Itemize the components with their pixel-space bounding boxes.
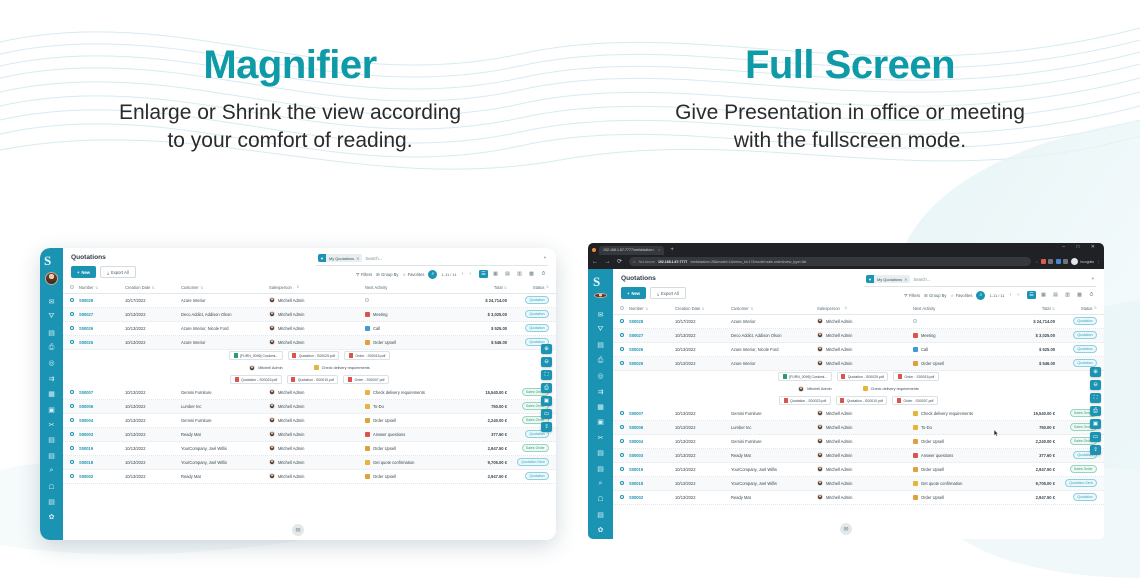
cell-creation-date: 10/13/2022: [675, 333, 731, 338]
cell-customer: Gemini Furniture: [731, 439, 817, 444]
pdf-file-icon: [235, 377, 239, 382]
todo-icon: [314, 365, 319, 370]
pager: 1-11 / 11: [989, 293, 1004, 298]
row-checkbox[interactable]: [70, 390, 79, 394]
row-checkbox[interactable]: [620, 333, 629, 337]
table-row[interactable]: S0001810/13/2022YourCompany, Joel Willis…: [613, 477, 1104, 491]
calendar-view-icon[interactable]: ▤: [1051, 291, 1060, 299]
label-icon[interactable]: ▭: [541, 409, 552, 419]
cell-salesperson: Mitchell Admin: [817, 332, 913, 338]
cell-next-activity[interactable]: Order Upsell: [365, 340, 451, 345]
browser-toolbar-icons: ☆ Incognito ⋮: [1035, 258, 1100, 265]
row-checkbox[interactable]: [620, 481, 629, 485]
list-view-icon[interactable]: ☰: [1027, 291, 1036, 299]
cell-next-activity[interactable]: Order Upsell: [913, 439, 999, 444]
reload-icon[interactable]: ⟳: [617, 258, 625, 265]
odoo-content-right: Quotations + New ⤓ Export All: [613, 269, 1104, 539]
cell-next-activity[interactable]: To-Do: [913, 425, 999, 430]
cell-next-activity[interactable]: Order Upsell: [365, 446, 451, 451]
cell-customer: Azure Interior: [181, 340, 269, 345]
table-row[interactable]: S0000310/13/2022Ready MatMitchell AdminA…: [613, 449, 1104, 463]
upsell-icon: [365, 474, 370, 479]
back-icon[interactable]: ←: [592, 259, 601, 265]
gear-icon[interactable]: ✿: [594, 524, 607, 537]
kebab-menu-icon[interactable]: ⋮: [1097, 260, 1100, 264]
cell-number[interactable]: S00026: [79, 326, 125, 331]
search-facet-my-quotations[interactable]: ▼ My Quotations ✕: [318, 254, 362, 262]
window-icon[interactable]: ▣: [541, 396, 552, 406]
sort-icon: ⇅: [152, 286, 155, 290]
column-header-total[interactable]: Total⇅: [451, 285, 507, 290]
magnifier-minus-icon[interactable]: ⊖: [541, 357, 552, 367]
cell-next-activity[interactable]: Order Upsell: [365, 474, 451, 479]
book-icon[interactable]: ▤: [45, 495, 58, 508]
cell-number[interactable]: S00003: [629, 453, 675, 458]
browser-tab[interactable]: 192.168.1.67:7777/web#action= ×: [599, 246, 664, 255]
cell-number[interactable]: S00019: [79, 446, 125, 451]
breadcrumb[interactable]: Quotations: [621, 275, 686, 282]
cell-number[interactable]: S00007: [79, 390, 125, 395]
row-checkbox[interactable]: [620, 453, 629, 457]
cell-number[interactable]: S00007: [629, 411, 675, 416]
chat-icon[interactable]: ✉: [292, 524, 304, 536]
graph-view-icon[interactable]: ▩: [1075, 291, 1084, 299]
attachment-chip[interactable]: Order - S00007.pdf: [892, 396, 937, 406]
row-checkbox[interactable]: [620, 319, 629, 323]
row-checkbox[interactable]: [620, 411, 629, 415]
cut-icon[interactable]: ✂: [594, 431, 607, 444]
search-bar[interactable]: ▼ My Quotations ✕ Search... ▾: [864, 275, 1096, 287]
fullscreen-icon[interactable]: ⛶: [1090, 393, 1101, 403]
cell-number[interactable]: S00027: [79, 312, 125, 317]
group-by-button[interactable]: ⊞ Group By: [376, 272, 398, 277]
cell-creation-date: 10/17/2022: [675, 319, 731, 324]
column-header-number[interactable]: Number⇅: [629, 306, 675, 311]
table-icon[interactable]: ▣: [594, 416, 607, 429]
quote-icon: [913, 481, 918, 486]
quotations-table-right: Number⇅Creation Date⇅Customer⇅Salesperso…: [613, 303, 1104, 505]
activity-view-icon[interactable]: ⏱: [1087, 291, 1096, 299]
cell-number[interactable]: S00004: [629, 439, 675, 444]
column-header-next-activity[interactable]: Next Activity: [913, 306, 999, 311]
table-row[interactable]: S0002510/13/2022Azure InteriorMitchell A…: [613, 357, 1104, 371]
grid-icon[interactable]: ▦: [45, 388, 58, 401]
cell-status: Quotation: [1055, 359, 1097, 367]
settings-icon[interactable]: ◎: [45, 357, 58, 370]
cell-number[interactable]: S00028: [79, 298, 125, 303]
cell-number[interactable]: S00003: [79, 432, 125, 437]
cell-next-activity[interactable]: Get quote confirmation: [365, 460, 451, 465]
filters-label: Filters: [361, 272, 372, 277]
table-row[interactable]: S0000210/13/2022Ready MatMitchell AdminO…: [613, 491, 1104, 505]
table-row[interactable]: S0000410/13/2022Gemini FurnitureMitchell…: [63, 414, 556, 428]
table-row[interactable]: S0000610/13/2022Lumber IncMitchell Admin…: [63, 400, 556, 414]
extension-icon[interactable]: [1048, 259, 1053, 264]
document-icon[interactable]: ▤: [45, 449, 58, 462]
activity-placeholder-icon[interactable]: [913, 319, 917, 323]
pdf-file-icon: [349, 353, 353, 358]
cell-next-activity[interactable]: Order Upsell: [913, 361, 999, 366]
cell-number[interactable]: S00025: [79, 340, 125, 345]
column-header-customer[interactable]: Customer⇅: [731, 306, 817, 311]
expanded-salesperson: Mitchell Admin: [798, 386, 831, 392]
column-header-status[interactable]: Status⇅: [507, 285, 549, 290]
row-checkbox[interactable]: [70, 418, 79, 422]
pager-next-button[interactable]: ›: [468, 271, 472, 277]
not-secure-icon: ⚠: [633, 260, 636, 264]
row-checkbox[interactable]: [70, 298, 79, 302]
cell-customer: YourCompany, Joel Willis: [731, 481, 817, 486]
pager-prev-button[interactable]: ‹: [461, 271, 465, 277]
cell-salesperson: Mitchell Admin: [817, 360, 913, 366]
cell-number[interactable]: S00002: [629, 495, 675, 500]
attachment-chip[interactable]: Quotation - S00010.pdf: [287, 375, 339, 385]
row-checkbox[interactable]: [70, 326, 79, 330]
table-row[interactable]: S0001910/13/2022YourCompany, Joel Willis…: [63, 442, 556, 456]
cell-number[interactable]: S00006: [629, 425, 675, 430]
cut-icon[interactable]: ✂: [45, 419, 58, 432]
calendar-view-icon[interactable]: ▤: [503, 270, 512, 278]
attachment-chip[interactable]: Order - S00015.pdf: [344, 351, 389, 361]
new-button[interactable]: + New: [71, 266, 96, 278]
cell-salesperson: Mitchell Admin: [269, 339, 365, 345]
print-icon[interactable]: ⎙: [1090, 406, 1101, 416]
row-checkbox[interactable]: [70, 446, 79, 450]
chat-icon[interactable]: ✉: [840, 523, 852, 535]
attachment-chip[interactable]: Quotation - S00025.pdf: [288, 351, 340, 361]
cell-number[interactable]: S00027: [629, 333, 675, 338]
attachment-chip[interactable]: [FURN_0096] Customi...: [778, 372, 832, 382]
messages-icon[interactable]: ✉: [45, 295, 58, 308]
image-file-icon: [234, 353, 238, 358]
column-header-salesperson[interactable]: Salesperson⇅: [269, 285, 365, 290]
magnifier-minus-icon[interactable]: ⊖: [1090, 380, 1101, 390]
cell-number[interactable]: S00019: [629, 467, 675, 472]
cell-next-activity[interactable]: Order Upsell: [913, 495, 999, 500]
table-row[interactable]: S0002610/13/2022Azure Interior, Nicole F…: [63, 322, 556, 336]
status-badge: Quotation: [1073, 493, 1097, 501]
table-row[interactable]: S0000210/13/2022Ready MatMitchell AdminO…: [63, 470, 556, 484]
cell-salesperson: Mitchell Admin: [269, 311, 365, 317]
activity-view-icon[interactable]: ⏱: [539, 270, 548, 278]
table-row[interactable]: S0002610/13/2022Azure Interior, Nicole F…: [613, 343, 1104, 357]
kanban-view-icon[interactable]: ▦: [491, 270, 500, 278]
column-header-customer[interactable]: Customer⇅: [181, 285, 269, 290]
chevron-down-icon[interactable]: ▾: [544, 255, 546, 261]
activity-placeholder-icon[interactable]: [365, 298, 369, 302]
table-row[interactable]: S0000710/13/2022Gemini FurnitureMitchell…: [63, 386, 556, 400]
row-checkbox[interactable]: [620, 347, 629, 351]
search-area: ▼ My Quotations ✕ Search... ▾: [316, 254, 548, 279]
person-icon[interactable]: ☖: [45, 480, 58, 493]
cell-number[interactable]: S00002: [79, 474, 125, 479]
fullscreen-icon[interactable]: ⛶: [541, 370, 552, 380]
expanded-activity: Check delivery requirements: [863, 386, 919, 391]
magnifier-button[interactable]: ⌕: [976, 291, 985, 300]
search-user-icon[interactable]: ⌕: [594, 477, 607, 490]
cell-salesperson: Mitchell Admin: [269, 473, 365, 479]
cell-number[interactable]: S00018: [629, 481, 675, 486]
cell-next-activity[interactable]: [913, 319, 999, 323]
incognito-label: Incognito: [1080, 260, 1094, 264]
floating-action-buttons-right: ⊕⊖⛶⎙▣▭⇪: [1090, 367, 1101, 455]
row-checkbox[interactable]: [70, 404, 79, 408]
export-icon[interactable]: ⇪: [541, 422, 552, 432]
filters-button[interactable]: ⛛ Filters: [356, 272, 372, 277]
search-facet-my-quotations[interactable]: ▼ My Quotations ✕: [866, 275, 910, 283]
attachment-chip[interactable]: Quotation - S00010.pdf: [836, 396, 888, 406]
cell-next-activity[interactable]: Answer questions: [365, 432, 451, 437]
attachment-chip[interactable]: Quotation - S00023.pdf: [779, 396, 831, 406]
search-bar[interactable]: ▼ My Quotations ✕ Search... ▾: [316, 254, 548, 266]
graph-view-icon[interactable]: ▩: [527, 270, 536, 278]
cell-customer: Azure Interior: [181, 298, 269, 303]
attachment-chip[interactable]: Quotation - S00025.pdf: [837, 372, 889, 382]
new-button[interactable]: + New: [621, 287, 646, 299]
cell-number[interactable]: S00025: [629, 361, 675, 366]
sort-icon: ⇅: [95, 286, 98, 290]
search-input[interactable]: Search...: [913, 277, 1088, 282]
column-header-creation-date[interactable]: Creation Date⇅: [675, 306, 731, 311]
cell-total: 377.60 €: [999, 453, 1055, 458]
table-icon[interactable]: ▣: [45, 403, 58, 416]
kanban-view-icon[interactable]: ▦: [1039, 291, 1048, 299]
cell-customer: YourCompany, Joel Willis: [181, 460, 269, 465]
attachment-chip[interactable]: Order - S00007.pdf: [343, 375, 388, 385]
row-checkbox[interactable]: [620, 439, 629, 443]
filter-icon[interactable]: ⛛: [594, 324, 607, 337]
pdf-file-icon: [840, 398, 844, 403]
avatar[interactable]: [45, 272, 58, 285]
filters-label: Filters: [909, 293, 920, 298]
avatar: [817, 438, 823, 444]
clipboard-icon[interactable]: ▤: [594, 447, 607, 460]
column-header-number[interactable]: Number⇅: [79, 285, 125, 290]
group-icon: ⊞: [376, 272, 379, 277]
extension-icon[interactable]: [1056, 259, 1061, 264]
cell-number[interactable]: S00026: [629, 347, 675, 352]
magnifier-button[interactable]: ⌕: [428, 270, 437, 279]
close-icon[interactable]: ×: [658, 248, 660, 252]
avatar: [269, 325, 275, 331]
view-switcher: ☰ ▦ ▤ ▥ ▩ ⏱: [1027, 291, 1096, 299]
table-row[interactable]: S0001910/13/2022YourCompany, Joel Willis…: [613, 463, 1104, 477]
select-all-checkbox[interactable]: [620, 306, 629, 310]
cell-next-activity[interactable]: Meeting: [913, 333, 999, 338]
person-icon[interactable]: ☖: [594, 493, 607, 506]
cell-salesperson: Mitchell Admin: [269, 445, 365, 451]
export-all-button[interactable]: ⤓ Export All: [100, 266, 136, 278]
download-icon: ⤓: [657, 291, 659, 296]
table-row[interactable]: S0002510/13/2022Azure InteriorMitchell A…: [63, 336, 556, 350]
cell-customer: YourCompany, Joel Willis: [731, 467, 817, 472]
row-checkbox[interactable]: [620, 495, 629, 499]
favorites-button[interactable]: ☆ Favorites: [950, 293, 972, 298]
filters-button[interactable]: ⛛ Filters: [904, 293, 920, 298]
new-tab-button[interactable]: +: [670, 247, 674, 253]
cell-next-activity[interactable]: Meeting: [365, 312, 451, 317]
row-checkbox[interactable]: [620, 361, 629, 365]
todo-icon: [863, 386, 868, 391]
cell-creation-date: 10/13/2022: [675, 347, 731, 352]
browser-chrome: 192.168.1.67:7777/web#action= × + – □ ✕ …: [588, 243, 1104, 269]
cell-customer: Azure Interior: [731, 361, 817, 366]
column-header-salesperson[interactable]: Salesperson⇅: [817, 306, 913, 311]
export-all-button[interactable]: ⤓ Export All: [650, 287, 686, 299]
cell-salesperson: Mitchell Admin: [269, 459, 365, 465]
settings-icon[interactable]: ◎: [594, 370, 607, 383]
cell-number[interactable]: S00018: [79, 460, 125, 465]
cell-next-activity[interactable]: Call: [913, 347, 999, 352]
fullscreen-subtitle-line2: with the fullscreen mode.: [570, 127, 1130, 155]
column-header-total[interactable]: Total⇅: [999, 306, 1055, 311]
status-badge: Quotation: [525, 296, 549, 304]
attachment-chip[interactable]: Quotation - S00023.pdf: [230, 375, 282, 385]
print-icon[interactable]: ⎙: [541, 383, 552, 393]
table-row[interactable]: S0002710/13/2022Deco Addict, Addison Ols…: [63, 308, 556, 322]
select-all-checkbox[interactable]: [70, 285, 79, 289]
cell-status: Quotation Sent: [1055, 479, 1097, 487]
list-view-icon[interactable]: ☰: [479, 270, 488, 278]
cell-total: 2,947.50 €: [999, 495, 1055, 500]
cell-number[interactable]: S00028: [629, 319, 675, 324]
search-facet-label: My Quotations: [329, 256, 354, 261]
status-badge: Quotation: [525, 472, 549, 480]
extension-icon[interactable]: [1041, 259, 1046, 264]
column-header-status[interactable]: Status⇅: [1055, 306, 1097, 311]
table-row[interactable]: S0001810/13/2022YourCompany, Joel Willis…: [63, 456, 556, 470]
export-icon[interactable]: ⇪: [1090, 445, 1101, 455]
row-checkbox[interactable]: [70, 340, 79, 344]
table-row[interactable]: S0002710/13/2022Deco Addict, Addison Ols…: [613, 329, 1104, 343]
cell-next-activity[interactable]: Check delivery requirements: [365, 390, 451, 395]
messages-icon[interactable]: ✉: [594, 308, 607, 321]
cell-number[interactable]: S00004: [79, 418, 125, 423]
printer-icon[interactable]: ⎙: [594, 354, 607, 367]
close-icon[interactable]: ✕: [904, 277, 907, 282]
clipboard-icon[interactable]: ▤: [45, 434, 58, 447]
pdf-file-icon: [784, 398, 788, 403]
pager-prev-button[interactable]: ‹: [1009, 292, 1013, 298]
book-icon[interactable]: ▤: [594, 508, 607, 521]
pager-next-button[interactable]: ›: [1016, 292, 1020, 298]
chart-icon[interactable]: ⇉: [45, 372, 58, 385]
magnifier-plus-icon[interactable]: ⊕: [1090, 367, 1101, 377]
calendar-icon[interactable]: ▤: [45, 326, 58, 339]
export-button-label: Export All: [111, 270, 129, 275]
cell-customer: Ready Mat: [731, 495, 817, 500]
forward-icon[interactable]: →: [605, 259, 614, 265]
group-by-button[interactable]: ⊞ Group By: [924, 293, 946, 298]
cell-next-activity[interactable]: Order Upsell: [913, 467, 999, 472]
avatar: [817, 424, 823, 430]
printer-icon[interactable]: ⎙: [45, 342, 58, 355]
table-row[interactable]: S0000410/13/2022Gemini FurnitureMitchell…: [613, 435, 1104, 449]
profile-avatar[interactable]: [1071, 258, 1078, 265]
chevron-down-icon[interactable]: ▾: [1092, 276, 1094, 282]
cell-next-activity[interactable]: Call: [365, 326, 451, 331]
avatar: [817, 318, 823, 324]
table-row[interactable]: S0002810/17/2022Azure InteriorMitchell A…: [63, 294, 556, 308]
row-checkbox[interactable]: [70, 432, 79, 436]
search-user-icon[interactable]: ⌕: [45, 465, 58, 478]
favorites-label: Favorites: [956, 293, 973, 298]
cell-status: Quotation: [507, 310, 549, 318]
filter-icon[interactable]: ⛛: [45, 311, 58, 324]
odoo-content-left: Quotations + New ⤓ Export All: [63, 248, 556, 540]
table-row[interactable]: S0000310/13/2022Ready MatMitchell AdminA…: [63, 428, 556, 442]
cell-status: Quotation: [1055, 331, 1097, 339]
row-checkbox[interactable]: [620, 425, 629, 429]
attachment-chip[interactable]: Order - S00015.pdf: [893, 372, 938, 382]
url-path: /web#action=28&model=1&menu_id=17&model=…: [690, 260, 806, 264]
bookmark-star-icon[interactable]: ☆: [1035, 260, 1038, 264]
close-icon[interactable]: ✕: [356, 256, 359, 261]
cell-next-activity[interactable]: Get quote confirmation: [913, 481, 999, 486]
grid-icon[interactable]: ▦: [594, 400, 607, 413]
cell-next-activity[interactable]: To-Do: [365, 404, 451, 409]
calendar-icon[interactable]: ▤: [594, 339, 607, 352]
cell-status: Quotation: [507, 472, 549, 480]
magnifier-plus-icon[interactable]: ⊕: [541, 344, 552, 354]
cell-total: 2,947.50 €: [999, 467, 1055, 472]
chart-icon[interactable]: ⇉: [594, 385, 607, 398]
column-header-creation-date[interactable]: Creation Date⇅: [125, 285, 181, 290]
document-icon[interactable]: ▤: [594, 462, 607, 475]
column-header-next-activity[interactable]: Next Activity: [365, 285, 451, 290]
cell-next-activity[interactable]: Check delivery requirements: [913, 411, 999, 416]
attachment-chip[interactable]: [FURN_0096] Customi...: [229, 351, 283, 361]
table-row[interactable]: S0002810/17/2022Azure InteriorMitchell A…: [613, 315, 1104, 329]
breadcrumb[interactable]: Quotations: [71, 254, 136, 261]
table-row[interactable]: S0000710/13/2022Gemini FurnitureMitchell…: [613, 407, 1104, 421]
sort-icon: ⇅: [546, 285, 549, 290]
row-checkbox[interactable]: [70, 474, 79, 478]
row-checkbox[interactable]: [70, 460, 79, 464]
window-icon[interactable]: ▣: [1090, 419, 1101, 429]
new-button-label: New: [631, 291, 640, 296]
cell-customer: Gemini Furniture: [181, 390, 269, 395]
address-bar[interactable]: ⚠ Not secure 192.168.1.67:7777 /web#acti…: [629, 257, 1032, 266]
avatar: [817, 332, 823, 338]
pivot-view-icon[interactable]: ▥: [515, 270, 524, 278]
label-icon[interactable]: ▭: [1090, 432, 1101, 442]
avatar: [269, 473, 275, 479]
cell-salesperson: Mitchell Admin: [817, 494, 913, 500]
row-checkbox[interactable]: [620, 467, 629, 471]
magnifier-subtitle-line2: to your comfort of reading.: [10, 127, 570, 155]
pdf-file-icon: [292, 353, 296, 358]
cell-next-activity[interactable]: Answer questions: [913, 453, 999, 458]
table-row[interactable]: S0000610/13/2022Lumber IncMitchell Admin…: [613, 421, 1104, 435]
plus-icon: +: [77, 270, 79, 275]
cell-next-activity[interactable]: Order Upsell: [365, 418, 451, 423]
cell-customer: YourCompany, Joel Willis: [181, 446, 269, 451]
avatar[interactable]: [594, 293, 607, 298]
favorites-button[interactable]: ☆ Favorites: [402, 272, 424, 277]
sort-icon: ⇅: [750, 307, 753, 311]
extension-icon[interactable]: [1063, 259, 1068, 264]
search-input[interactable]: Search...: [365, 256, 540, 261]
cell-next-activity[interactable]: [365, 298, 451, 302]
gear-icon[interactable]: ✿: [45, 511, 58, 524]
row-checkbox[interactable]: [70, 312, 79, 316]
expanded-activity-row: Mitchell AdminCheck delivery requirement…: [63, 362, 556, 374]
cell-number[interactable]: S00006: [79, 404, 125, 409]
cell-customer: Azure Interior, Nicole Ford: [181, 326, 269, 331]
pivot-view-icon[interactable]: ▥: [1063, 291, 1072, 299]
window-controls[interactable]: – □ ✕: [1062, 244, 1100, 250]
